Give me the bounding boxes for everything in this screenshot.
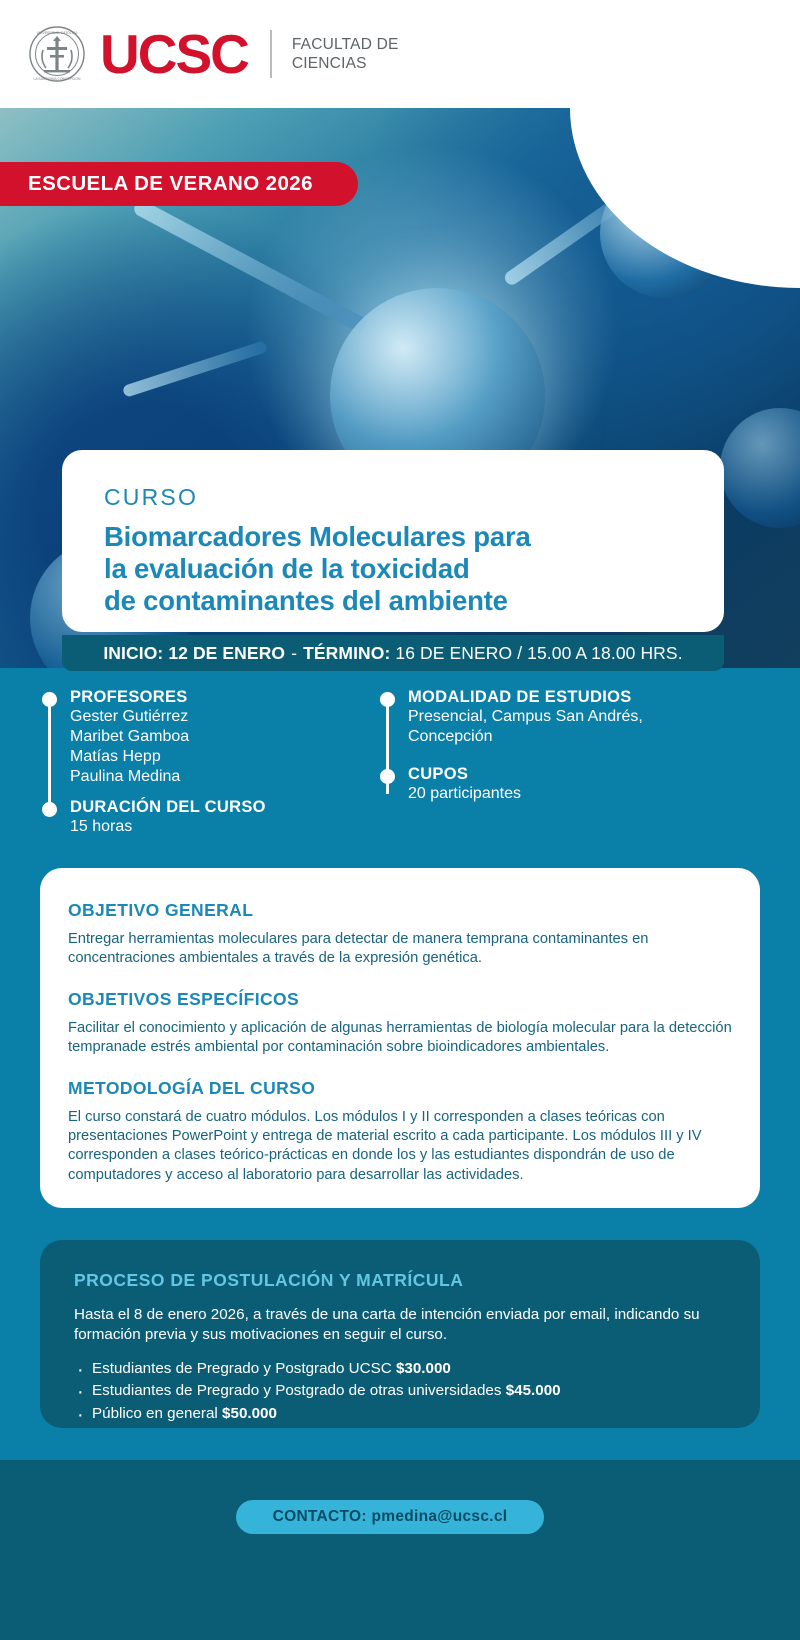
duration-group: DURACIÓN DEL CURSO 15 horas: [42, 798, 372, 837]
ucsc-university-crest-icon: UNIVERSIDAD CATOLICA LA SANTISIMA CONCEP…: [28, 25, 86, 83]
termino-value: 16 DE ENERO: [395, 643, 512, 663]
course-kicker: CURSO: [104, 484, 724, 511]
course-title-line-1: Biomarcadores Moleculares para: [104, 521, 724, 553]
page-header: UNIVERSIDAD CATOLICA LA SANTISIMA CONCEP…: [0, 0, 800, 108]
objetivos-especificos-body: Facilitar el conocimiento y aplicación d…: [68, 1019, 732, 1058]
fee-label: Estudiantes de Pregrado y Postgrado de o…: [92, 1382, 501, 1399]
modality-line-2: Concepción: [408, 727, 760, 747]
professors-group: PROFESORES Gester Gutiérrez Maribet Gamb…: [42, 688, 372, 788]
ribbon-label: ESCUELA DE VERANO 2026: [28, 172, 313, 196]
faculty-line-1: FACULTAD DE: [292, 35, 399, 54]
info-column-right: MODALIDAD DE ESTUDIOS Presencial, Campus…: [380, 688, 760, 810]
fee-price: $50.000: [222, 1405, 277, 1422]
bullet-dot-icon: [42, 802, 57, 817]
list-item: Matías Hepp: [70, 747, 372, 767]
professors-list: Gester Gutiérrez Maribet Gamboa Matías H…: [70, 707, 372, 788]
course-title-card: CURSO Biomarcadores Moleculares para la …: [62, 450, 724, 632]
course-title-line-2: la evaluación de la toxicidad: [104, 553, 724, 585]
postulacion-heading: PROCESO DE POSTULACIÓN Y MATRÍCULA: [74, 1270, 726, 1291]
course-title-line-3: de contaminantes del ambiente: [104, 585, 724, 617]
modality-line-1: Presencial, Campus San Andrés,: [408, 707, 760, 727]
metodologia-body: El curso constará de cuatro módulos. Los…: [68, 1108, 732, 1186]
course-dates-band: INICIO: 12 DE ENERO-TÉRMINO: 16 DE ENERO…: [62, 635, 724, 671]
professors-heading: PROFESORES: [70, 688, 372, 707]
fee-label: Público en general: [92, 1405, 218, 1422]
inicio-value: 12 DE ENERO: [168, 643, 285, 663]
objetivo-general-body: Entregar herramientas moleculares para d…: [68, 930, 732, 969]
course-title: Biomarcadores Moleculares para la evalua…: [104, 521, 724, 618]
duration-value: 15 horas: [70, 817, 372, 837]
list-item: Estudiantes de Pregrado y Postgrado UCSC…: [74, 1358, 726, 1380]
course-schedule: / 15.00 A 18.00 HRS.: [517, 643, 682, 663]
contact-label: CONTACTO:: [273, 1508, 367, 1526]
inicio-label: INICIO:: [103, 643, 163, 663]
bullet-dot-icon: [42, 692, 57, 707]
list-item: Gester Gutiérrez: [70, 707, 372, 727]
fee-label: Estudiantes de Pregrado y Postgrado UCSC: [92, 1360, 392, 1377]
dates-separator: -: [285, 643, 303, 663]
cupos-group: CUPOS 20 participantes: [380, 765, 760, 804]
termino-label: TÉRMINO:: [303, 643, 390, 663]
cupos-value: 20 participantes: [408, 784, 760, 804]
list-item: Maribet Gamboa: [70, 727, 372, 747]
objectives-panel: OBJETIVO GENERAL Entregar herramientas m…: [40, 868, 760, 1208]
ucsc-logotype: UCSC: [100, 27, 248, 82]
postulacion-card: PROCESO DE POSTULACIÓN Y MATRÍCULA Hasta…: [40, 1240, 760, 1428]
postulacion-intro: Hasta el 8 de enero 2026, a través de un…: [74, 1305, 726, 1345]
header-divider: [270, 30, 272, 78]
metodologia-heading: METODOLOGÍA DEL CURSO: [68, 1078, 732, 1099]
bullet-dot-icon: [380, 769, 395, 784]
bullet-dot-icon: [380, 692, 395, 707]
cupos-heading: CUPOS: [408, 765, 760, 784]
faculty-name: FACULTAD DE CIENCIAS: [292, 35, 399, 74]
info-column-left: PROFESORES Gester Gutiérrez Maribet Gamb…: [42, 688, 372, 843]
summer-school-ribbon: ESCUELA DE VERANO 2026: [0, 162, 358, 206]
modality-heading: MODALIDAD DE ESTUDIOS: [408, 688, 760, 707]
list-item: Paulina Medina: [70, 767, 372, 787]
svg-text:UNIVERSIDAD CATOLICA: UNIVERSIDAD CATOLICA: [37, 31, 78, 35]
faculty-line-2: CIENCIAS: [292, 54, 399, 73]
objetivo-general-heading: OBJETIVO GENERAL: [68, 900, 732, 921]
page-footer: [0, 1460, 800, 1640]
objetivos-especificos-heading: OBJETIVOS ESPECÍFICOS: [68, 989, 732, 1010]
fee-price: $45.000: [506, 1382, 561, 1399]
duration-heading: DURACIÓN DEL CURSO: [70, 798, 372, 817]
course-info-section: PROFESORES Gester Gutiérrez Maribet Gamb…: [0, 680, 800, 865]
modality-group: MODALIDAD DE ESTUDIOS Presencial, Campus…: [380, 688, 760, 747]
fee-price: $30.000: [396, 1360, 451, 1377]
contact-button[interactable]: CONTACTO: pmedina@ucsc.cl: [236, 1500, 544, 1534]
svg-text:LA SANTISIMA CONCEPCION: LA SANTISIMA CONCEPCION: [34, 77, 81, 81]
list-item: Público en general $50.000: [74, 1403, 726, 1425]
list-item: Estudiantes de Pregrado y Postgrado de o…: [74, 1380, 726, 1402]
contact-email: pmedina@ucsc.cl: [371, 1508, 507, 1526]
fees-list: Estudiantes de Pregrado y Postgrado UCSC…: [74, 1358, 726, 1424]
